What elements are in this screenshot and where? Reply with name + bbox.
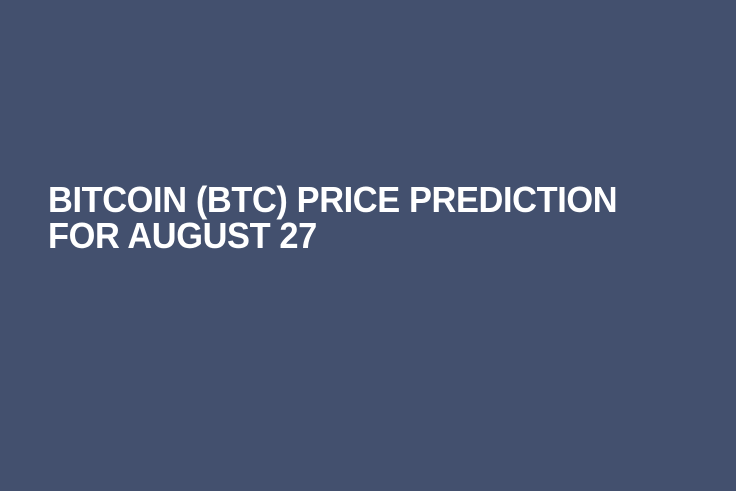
page-title-line-1: BITCOIN (BTC) PRICE PREDICTION	[48, 182, 659, 218]
article-hero-banner: BITCOIN (BTC) PRICE PREDICTION FOR AUGUS…	[0, 0, 736, 491]
page-title: BITCOIN (BTC) PRICE PREDICTION FOR AUGUS…	[48, 182, 659, 254]
page-title-line-2: FOR AUGUST 27	[48, 218, 659, 254]
